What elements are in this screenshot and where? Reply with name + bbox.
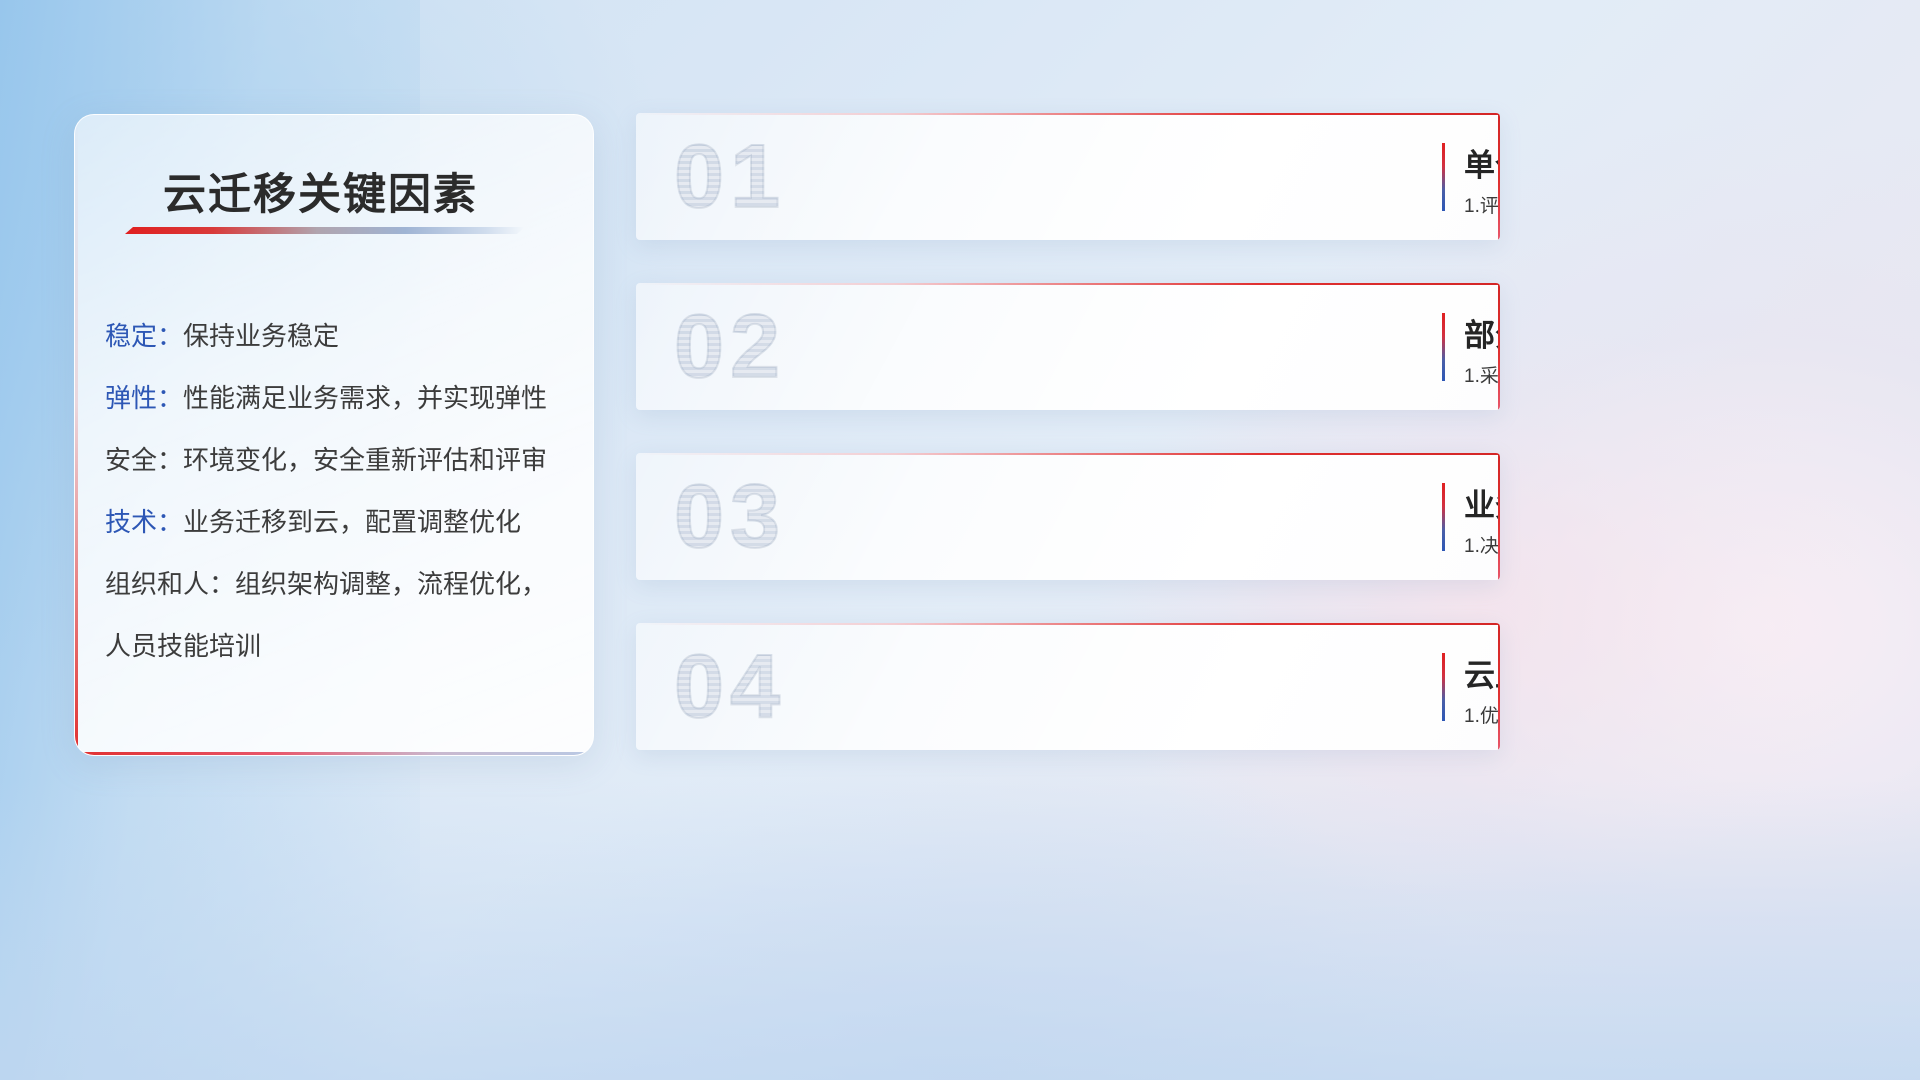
list-item-continuation: 人员技能培训: [105, 615, 575, 677]
page-title: 云迁移关键因素: [163, 160, 478, 222]
stage-card-body: 单个项目尝试上云 1.评估上云的价值 2.通常以某个项目作为尝试: [636, 113, 1500, 240]
stage-description: 1.决定长期使用云计算 2.迁移应用上云，甚至包括核心应用: [1464, 531, 1500, 558]
background-gradient-bottom: [0, 780, 1920, 1080]
stage-description: 1.评估上云的价值 2.通常以某个项目作为尝试: [1464, 191, 1500, 218]
list-item: 组织和人：组织架构调整，流程优化，: [105, 553, 575, 615]
list-item-label: 技术：: [105, 507, 183, 537]
stage-heading: 单个项目尝试上云: [1464, 140, 1500, 185]
stage-card[interactable]: 03 03 业务系统全面上云 1.决定长期使用云计算 2.迁移应用上云，甚至包括…: [636, 453, 1500, 580]
stage-heading: 业务系统全面上云: [1464, 480, 1500, 525]
list-item-text: 环境变化，安全重新评估和评审: [183, 445, 547, 475]
stage-heading: 部分业务系统上云: [1464, 310, 1500, 355]
key-factors-panel: 云迁移关键因素 稳定：保持业务稳定 弹性：性能满足业务需求，并实现弹性 安全：环…: [74, 114, 594, 756]
stage-card[interactable]: 04 04 云上系统运营优化 1.优化运营模式和技术模式 2.云计算变成默认选项: [636, 623, 1500, 750]
stage-heading: 云上系统运营优化: [1464, 650, 1500, 695]
list-item-label: 弹性：: [105, 383, 183, 413]
list-item: 技术：业务迁移到云，配置调整优化: [105, 491, 575, 553]
list-item: 稳定：保持业务稳定: [105, 305, 575, 367]
list-item-label: 稳定：: [105, 321, 183, 351]
stage-card[interactable]: 01 01 单个项目尝试上云 1.评估上云的价值 2.通常以某个项目作为尝试: [636, 113, 1500, 240]
stage-card-body: 部分业务系统上云 1.采用公有云作为数据中心的延伸 2.建立运营和安全规范: [636, 283, 1500, 410]
stage-description: 1.采用公有云作为数据中心的延伸 2.建立运营和安全规范: [1464, 361, 1500, 388]
stage-card[interactable]: 02 02 部分业务系统上云 1.采用公有云作为数据中心的延伸 2.建立运营和安…: [636, 283, 1500, 410]
stage-cards: 01 01 单个项目尝试上云 1.评估上云的价值 2.通常以某个项目作为尝试 0…: [636, 113, 1500, 793]
list-item-text: 组织架构调整，流程优化，: [235, 569, 547, 599]
list-item-text: 业务迁移到云，配置调整优化: [183, 507, 521, 537]
list-item-text: 人员技能培训: [105, 631, 261, 661]
list-item: 安全：环境变化，安全重新评估和评审: [105, 429, 575, 491]
stage-description: 1.优化运营模式和技术模式 2.云计算变成默认选项: [1464, 701, 1500, 728]
stage-card-body: 业务系统全面上云 1.决定长期使用云计算 2.迁移应用上云，甚至包括核心应用: [636, 453, 1500, 580]
list-item: 弹性：性能满足业务需求，并实现弹性: [105, 367, 575, 429]
list-item-label: 安全：: [105, 445, 183, 475]
list-item-text: 保持业务稳定: [183, 321, 339, 351]
list-item-label: 组织和人：: [105, 569, 235, 599]
key-factors-list: 稳定：保持业务稳定 弹性：性能满足业务需求，并实现弹性 安全：环境变化，安全重新…: [105, 305, 575, 677]
list-item-text: 性能满足业务需求，并实现弹性: [183, 383, 547, 413]
stage-card-body: 云上系统运营优化 1.优化运营模式和技术模式 2.云计算变成默认选项: [636, 623, 1500, 750]
title-underline-gradient: [125, 227, 525, 234]
